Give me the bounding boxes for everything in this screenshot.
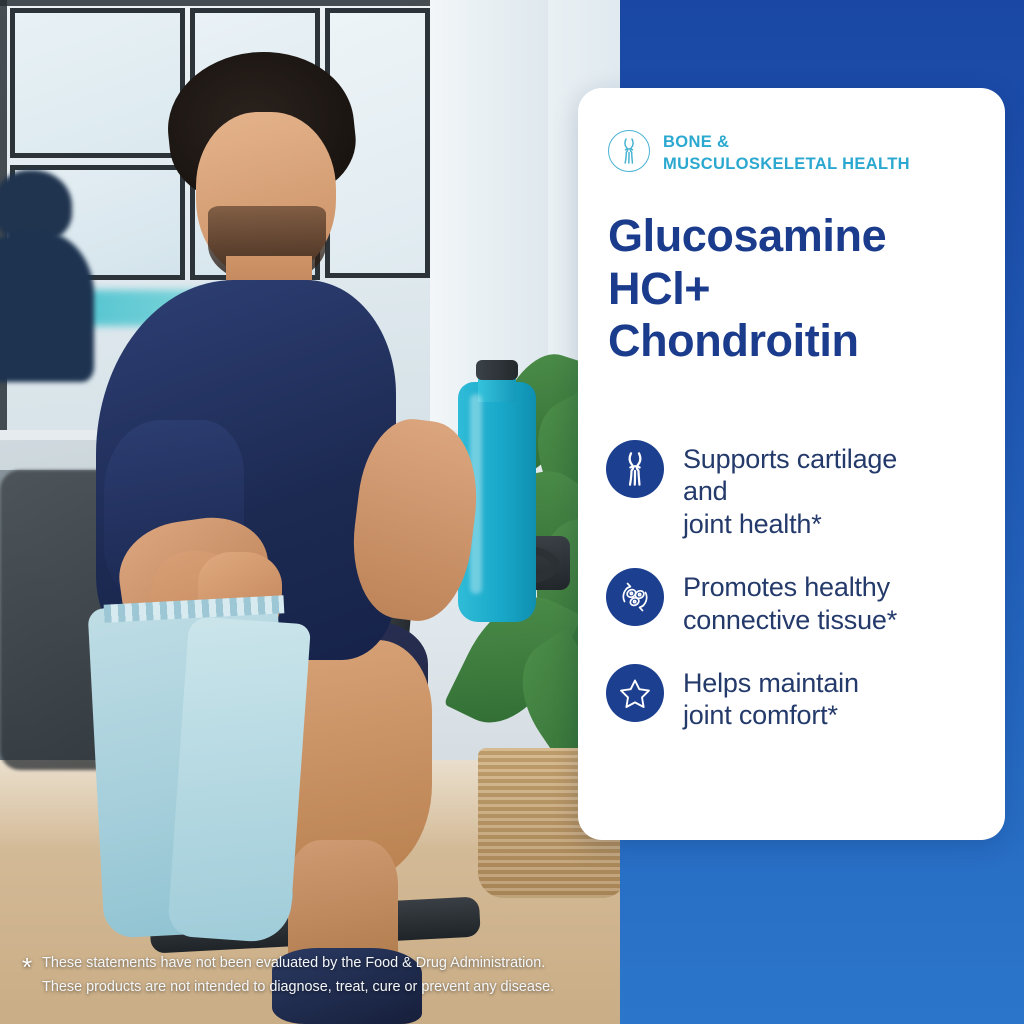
title-line-1: Glucosamine	[608, 210, 886, 261]
page-title: Glucosamine HCl+ Chondroitin	[608, 210, 998, 368]
disclaimer: * These statements have not been evaluat…	[22, 952, 622, 1000]
photo-window-pane	[10, 8, 185, 158]
list-item: Supports cartilage and joint health*	[606, 440, 988, 540]
benefits-list: Supports cartilage and joint health*	[606, 440, 988, 760]
title-line-3: Chondroitin	[608, 315, 859, 366]
benefit-1-line-1: Supports cartilage	[683, 444, 897, 474]
product-benefits-card: BONE & MUSCULOSKELETAL HEALTH Glucosamin…	[578, 88, 1005, 840]
disclaimer-text: These statements have not been evaluated…	[42, 952, 554, 1000]
list-item: Promotes healthy connective tissue*	[606, 568, 988, 636]
benefit-2-line-1: Promotes healthy	[683, 572, 890, 602]
list-item-label: Promotes healthy connective tissue*	[683, 568, 897, 636]
benefit-3-line-1: Helps maintain	[683, 668, 859, 698]
benefit-2-line-2: connective tissue*	[683, 605, 897, 635]
cell-regeneration-icon	[606, 568, 664, 626]
category-line-2: MUSCULOSKELETAL HEALTH	[663, 155, 910, 173]
category-line-1: BONE &	[663, 133, 729, 151]
list-item: Helps maintain joint comfort*	[606, 664, 988, 732]
category-label: BONE & MUSCULOSKELETAL HEALTH	[663, 130, 910, 176]
photo-bottle-cap	[476, 360, 518, 380]
list-item-label: Helps maintain joint comfort*	[683, 664, 859, 732]
disclaimer-line-1: These statements have not been evaluated…	[42, 955, 545, 971]
benefit-1-line-2: and	[683, 476, 727, 506]
asterisk-marker: *	[22, 952, 32, 980]
title-line-2: HCl+	[608, 263, 710, 314]
list-item-label: Supports cartilage and joint health*	[683, 440, 897, 540]
lifestyle-photo	[0, 0, 624, 1024]
benefit-3-line-2: joint comfort*	[683, 700, 838, 730]
disclaimer-line-2: These products are not intended to diagn…	[42, 979, 554, 995]
star-icon	[606, 664, 664, 722]
photo-towel-fold	[167, 616, 311, 944]
infographic-canvas: BONE & MUSCULOSKELETAL HEALTH Glucosamin…	[0, 0, 1024, 1024]
category-badge: BONE & MUSCULOSKELETAL HEALTH	[608, 130, 978, 176]
knee-joint-icon	[608, 130, 650, 172]
photo-background-person-body	[0, 232, 94, 382]
knee-joint-icon	[606, 440, 664, 498]
benefit-1-line-3: joint health*	[683, 509, 822, 539]
